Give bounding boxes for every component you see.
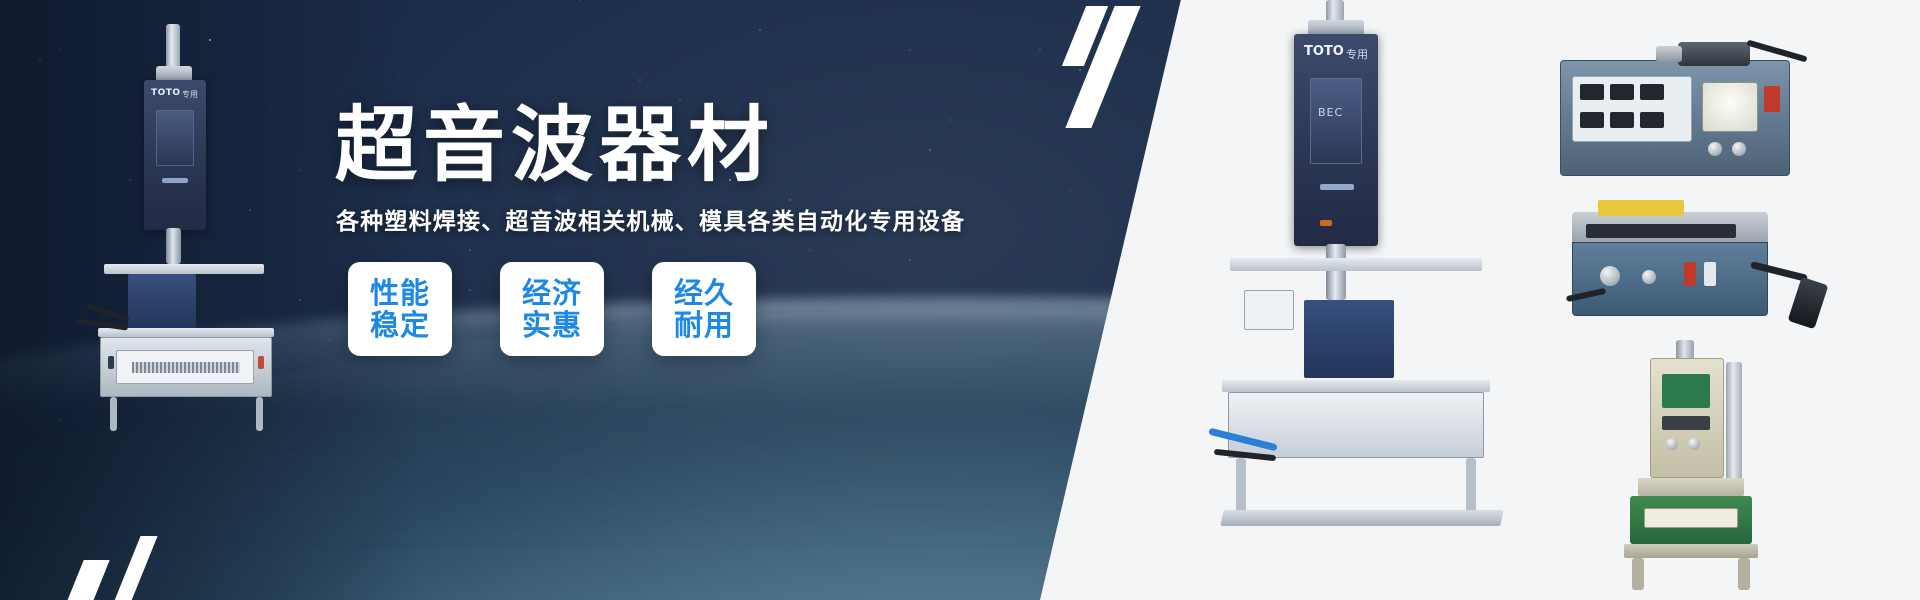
- feature-badge-list: 性能 稳定 经济 实惠 经久 耐用: [348, 262, 756, 356]
- page-subtitle: 各种塑料焊接、超音波相关机械、模具各类自动化专用设备: [336, 208, 1036, 238]
- feature-badge-economy[interactable]: 经济 实惠: [500, 262, 604, 356]
- banner-text-block: 超音波器材 各种塑料焊接、超音波相关机械、模具各类自动化专用设备 性能 稳定 经…: [0, 0, 1060, 600]
- badge-line-1: 性能: [370, 277, 430, 309]
- photo-ultrasonic-welder-bench: TOTO 专用 BEC: [1208, 0, 1508, 600]
- photo-spot-welder: [1564, 196, 1824, 336]
- photo-tower-brand: TOTO: [1304, 44, 1344, 59]
- promo-banner: TOTO 专用 超音波器材 各种塑料焊接、超音波相关机械、模具各类自动化专用设备…: [0, 0, 1920, 600]
- feature-badge-performance[interactable]: 性能 稳定: [348, 262, 452, 356]
- badge-line-1: 经久: [674, 277, 734, 309]
- page-title: 超音波器材: [335, 105, 975, 187]
- badge-line-2: 稳定: [370, 309, 430, 341]
- feature-badge-durability[interactable]: 经久 耐用: [652, 262, 756, 356]
- badge-line-2: 耐用: [674, 309, 734, 341]
- right-photo-panel: TOTO 专用 BEC: [1040, 0, 1920, 600]
- photo-tower-tag: BEC: [1318, 106, 1343, 119]
- badge-line-2: 实惠: [522, 309, 582, 341]
- photo-tower-sub: 专用: [1346, 46, 1368, 62]
- photo-standing-welder: [1610, 340, 1840, 600]
- badge-line-1: 经济: [522, 277, 582, 309]
- photo-ultrasonic-generator: [1560, 42, 1810, 182]
